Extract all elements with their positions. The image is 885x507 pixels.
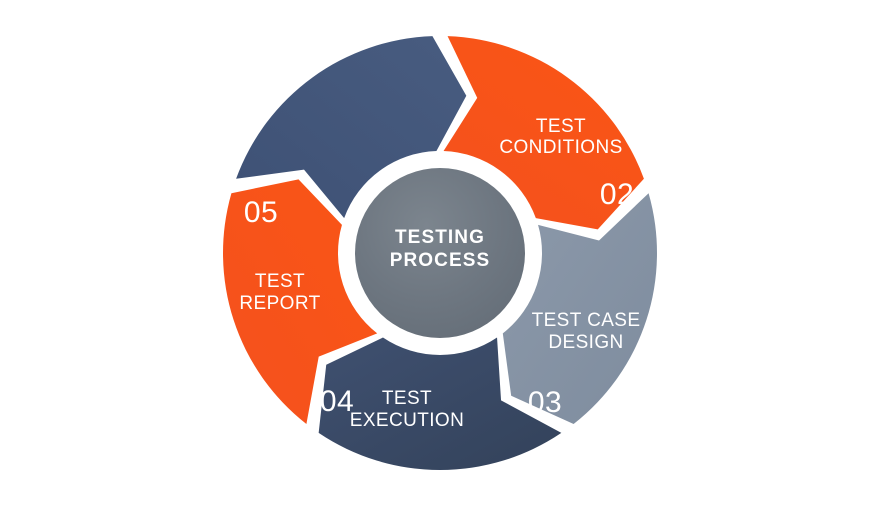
center-hub-title-line2: PROCESS [390,250,491,271]
cycle-segment-03-number: 03 [528,386,562,419]
cycle-segment-04-label-line2: EXECUTION [350,410,464,431]
cycle-segment-02-number: 02 [600,178,634,211]
cycle-segment-05-label-line1: TEST [255,271,305,292]
testing-process-diagram: 01 REQUIREMENTS TEST CONDITIONS 02 TEST … [0,0,885,507]
cycle-segment-04-label-line1: TEST [382,388,432,409]
cycle-segment-02-label-line1: TEST [536,116,586,137]
cycle-segment-03-label-line2: DESIGN [548,332,623,353]
cycle-segment-02-label-line2: CONDITIONS [499,137,622,158]
center-hub-title-line1: TESTING [395,227,485,248]
cycle-segment-05-number: 05 [244,196,278,229]
center-hub: TESTING PROCESS [355,168,525,338]
cycle-segment-03-label-line1: TEST CASE [532,310,641,331]
cycle-segment-02-shape[interactable] [503,193,657,424]
cycle-segment-05-label-line2: REPORT [239,293,320,314]
cycle-diagram-svg: 01 REQUIREMENTS TEST CONDITIONS 02 TEST … [0,0,885,507]
